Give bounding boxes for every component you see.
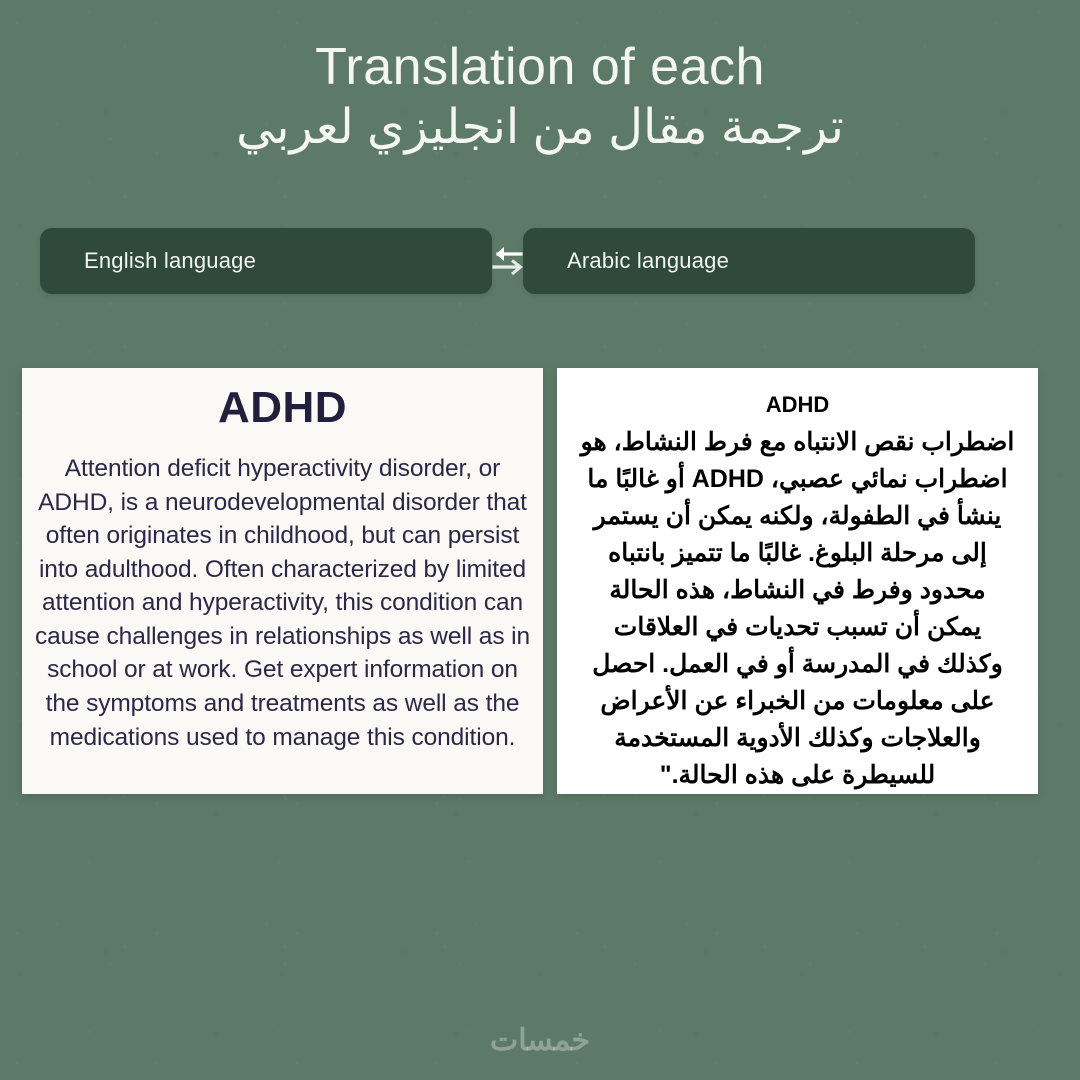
source-language-button[interactable]: English language	[40, 228, 492, 294]
translation-cards: ADHD Attention deficit hyperactivity dis…	[22, 368, 1038, 794]
poster-page: Translation of each ترجمة مقال من انجليز…	[0, 0, 1080, 1080]
english-card-body: Attention deficit hyperactivity disorder…	[34, 452, 531, 754]
english-card-heading: ADHD	[34, 386, 531, 430]
header: Translation of each ترجمة مقال من انجليز…	[0, 0, 1080, 158]
arabic-card-body: اضطراب نقص الانتباه مع فرط النشاط، هو اض…	[579, 424, 1016, 794]
target-language-button[interactable]: Arabic language	[523, 228, 975, 294]
english-text-card: ADHD Attention deficit hyperactivity dis…	[22, 368, 543, 794]
watermark-khamsat: خمسات	[0, 1023, 1080, 1058]
page-title-arabic: ترجمة مقال من انجليزي لعربي	[0, 98, 1080, 158]
swap-horizontal-icon[interactable]	[492, 228, 523, 294]
target-language-label: Arabic language	[523, 248, 729, 274]
arabic-text-card: ADHD اضطراب نقص الانتباه مع فرط النشاط، …	[557, 368, 1038, 794]
page-title-english: Translation of each	[0, 38, 1080, 96]
arabic-card-heading: ADHD	[579, 392, 1016, 418]
language-selector-bar: English language Arabic language	[40, 228, 975, 294]
source-language-label: English language	[40, 248, 256, 274]
